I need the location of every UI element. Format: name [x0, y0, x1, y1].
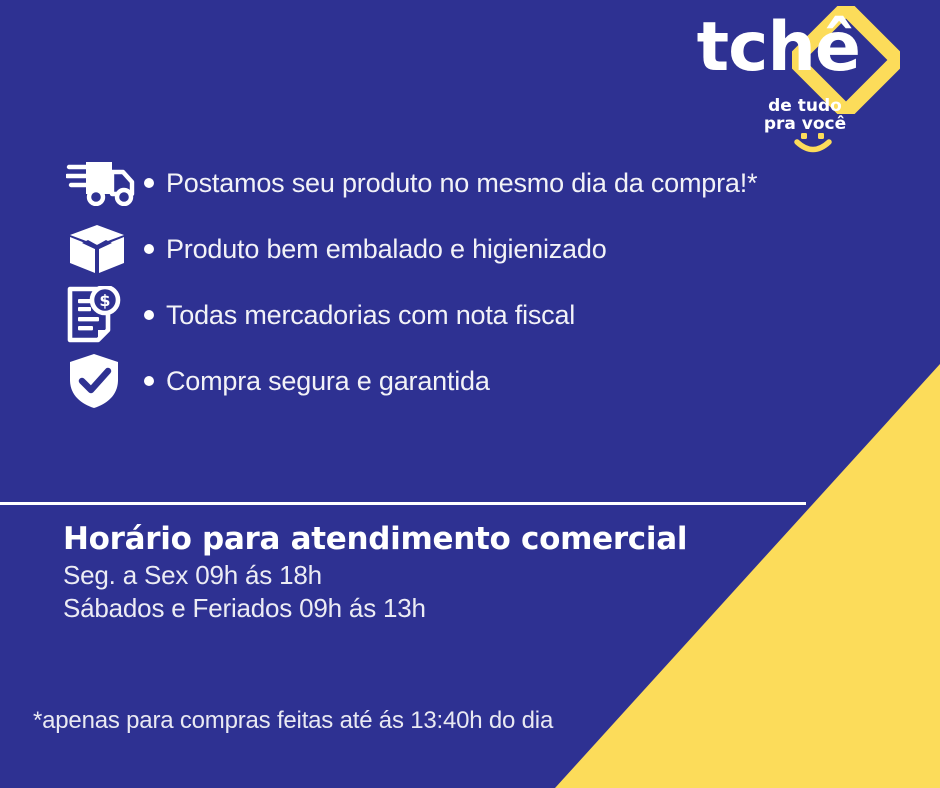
feature-item: Compra segura e garantida: [0, 348, 820, 414]
logo-tagline-line1: de tudo: [730, 97, 880, 115]
bullet-dot: [144, 244, 154, 254]
bullet-dot: [144, 310, 154, 320]
feature-item: $ Todas mercadorias com nota fiscal: [0, 282, 820, 348]
svg-text:$: $: [99, 291, 110, 310]
footnote-text: *apenas para compras feitas até ás 13:40…: [33, 707, 553, 735]
logo-wordmark: tchê: [697, 14, 860, 82]
logo-tagline: de tudo pra você: [730, 97, 880, 134]
business-hours-title: Horário para atendimento comercial: [63, 520, 763, 559]
business-hours-weekend: Sábados e Feriados 09h ás 13h: [63, 592, 763, 625]
delivery-truck-icon: [66, 160, 144, 206]
feature-label: Produto bem embalado e higienizado: [166, 234, 607, 265]
open-box-icon: [66, 223, 144, 275]
feature-item: Produto bem embalado e higienizado: [0, 216, 820, 282]
brand-logo: tchê de tudo pra você: [718, 4, 918, 150]
business-hours-weekday: Seg. a Sex 09h ás 18h: [63, 559, 763, 592]
feature-label: Postamos seu produto no mesmo dia da com…: [166, 168, 757, 199]
shield-check-icon: [66, 352, 144, 410]
feature-list: Postamos seu produto no mesmo dia da com…: [0, 150, 820, 414]
feature-label: Compra segura e garantida: [166, 366, 490, 397]
feature-label: Todas mercadorias com nota fiscal: [166, 300, 575, 331]
logo-tagline-line2: pra você: [730, 115, 880, 133]
bullet-dot: [144, 376, 154, 386]
promo-banner: tchê de tudo pra você: [0, 0, 940, 788]
bullet-dot: [144, 178, 154, 188]
feature-item: Postamos seu produto no mesmo dia da com…: [0, 150, 820, 216]
business-hours-section: Horário para atendimento comercial Seg. …: [63, 520, 763, 625]
invoice-dollar-icon: $: [66, 286, 144, 344]
horizontal-divider: [0, 502, 806, 505]
